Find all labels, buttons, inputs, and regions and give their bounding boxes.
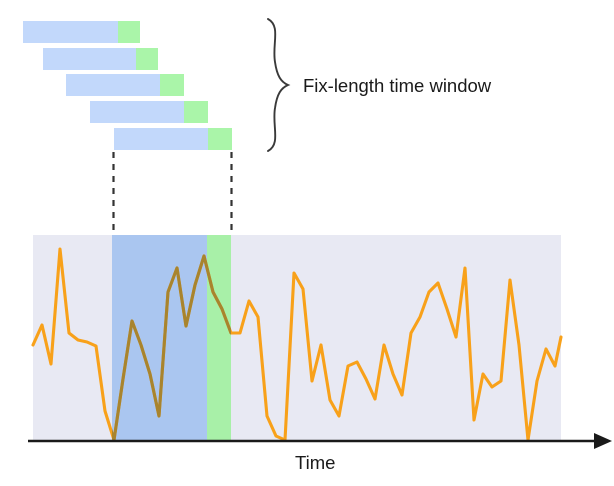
window-bar-3 — [66, 74, 184, 96]
axis-label-time: Time — [295, 452, 335, 473]
window-bar-1-history — [23, 21, 118, 43]
axis-arrow-head — [594, 433, 612, 449]
window-bar-2 — [43, 48, 158, 70]
window-bar-4-history — [90, 101, 184, 123]
figure-canvas: Fix-length time window Time — [0, 0, 614, 486]
window-bar-4-horizon — [184, 101, 208, 123]
window-bar-4 — [90, 101, 208, 123]
window-bar-3-history — [66, 74, 160, 96]
window-bar-1 — [23, 21, 140, 43]
window-guide-lines — [114, 152, 232, 234]
window-bar-5-horizon — [208, 128, 232, 150]
time-series-plot — [33, 235, 561, 440]
highlight-horizon-window — [207, 235, 231, 440]
window-bar-5 — [114, 128, 232, 150]
window-bar-2-horizon — [136, 48, 158, 70]
window-bar-1-horizon — [118, 21, 140, 43]
sliding-window-bars — [23, 21, 232, 150]
window-bar-2-history — [43, 48, 136, 70]
curly-brace — [268, 19, 288, 151]
window-bar-3-horizon — [160, 74, 184, 96]
window-bar-5-history — [114, 128, 208, 150]
fix-length-window-label: Fix-length time window — [303, 75, 492, 96]
